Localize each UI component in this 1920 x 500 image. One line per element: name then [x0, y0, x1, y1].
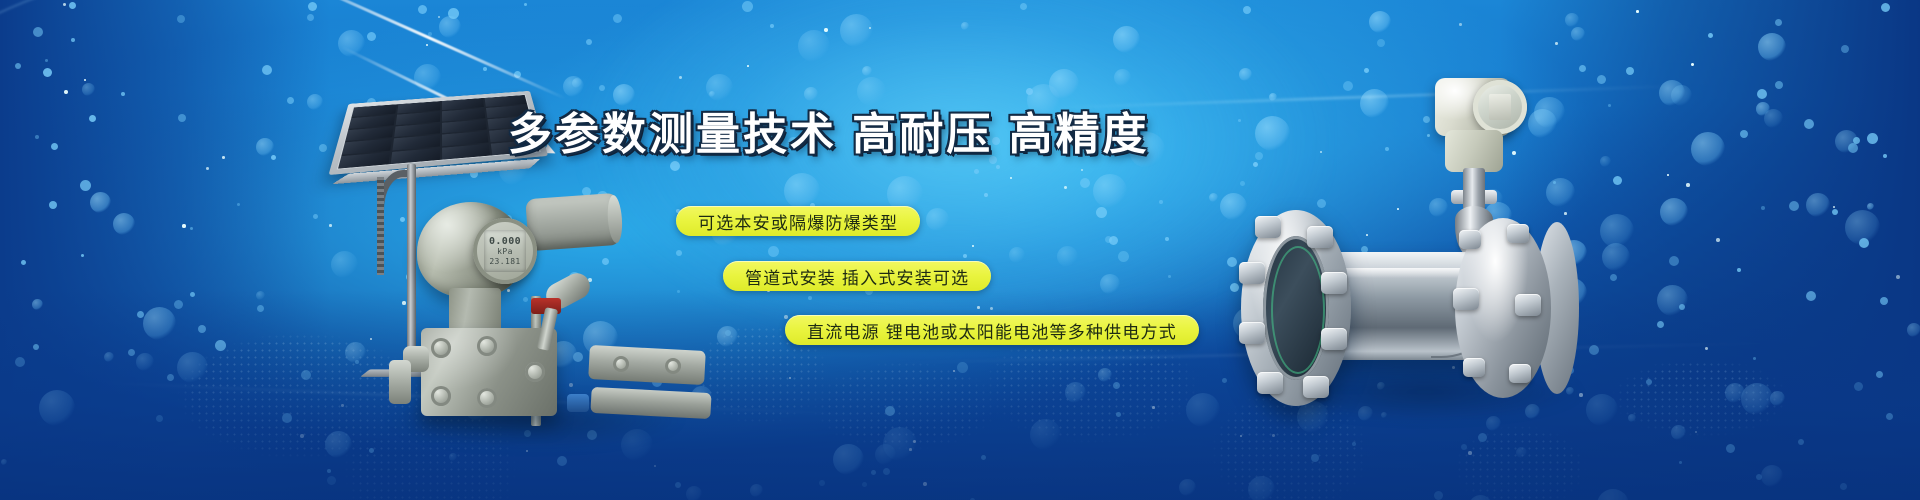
banner-headline: 多参数测量技术 高耐压 高精度 [508, 98, 1149, 162]
bolt [665, 358, 681, 374]
pipe-flange-left [1241, 210, 1351, 406]
flange-bolt [1515, 294, 1541, 316]
flange-bolt [1507, 224, 1529, 243]
flange-bolt [1239, 262, 1265, 284]
flange-bolt [1303, 376, 1329, 398]
bolt [525, 362, 545, 382]
bolt [431, 338, 451, 358]
valve-manifold-block [421, 328, 557, 416]
bolt [477, 388, 497, 408]
lcd-unit: kPa [497, 247, 513, 256]
lcd-value-primary: 0.000 [489, 237, 521, 246]
flange-face-gasket [1263, 236, 1329, 380]
flange-bolt [1321, 272, 1347, 294]
feature-badge-2[interactable]: 管道式安装 插入式安装可选 [723, 261, 991, 291]
sensor-drum [525, 193, 620, 251]
bolt [613, 356, 629, 372]
transmitter-display-lens [1473, 80, 1527, 134]
bolt [431, 386, 451, 406]
flange-bolt [1257, 372, 1283, 394]
feature-badge-1[interactable]: 可选本安或隔爆防爆类型 [676, 206, 920, 236]
flange-bolt [1255, 216, 1281, 238]
flange-bolt [1453, 288, 1479, 310]
flange-bolt [1321, 328, 1347, 350]
product-banner: 0.000 kPa 23.181 [0, 0, 1920, 500]
product-image-flow-meter [1245, 62, 1625, 392]
lcd-value-secondary: 23.181 [489, 257, 520, 266]
process-pipe [588, 345, 706, 385]
feature-badge-3[interactable]: 直流电源 锂电池或太阳能电池等多种供电方式 [785, 315, 1199, 345]
lcd-screen: 0.000 kPa 23.181 [484, 230, 526, 272]
flange-bolt [1463, 358, 1485, 377]
transmitter-junction-box [1445, 130, 1503, 172]
blue-plug-cap [567, 394, 589, 412]
flange-bolt [1509, 364, 1531, 383]
flange-bolt [1459, 230, 1481, 249]
sensor-stem [1463, 168, 1485, 210]
flange-bolt [1307, 226, 1333, 248]
transmitter-display-window: 0.000 kPa 23.181 [473, 218, 537, 284]
pipe-flange-right [1455, 218, 1551, 398]
process-port [389, 360, 411, 404]
bolt [477, 336, 497, 356]
mounting-pole [407, 164, 416, 374]
flange-bolt [1239, 322, 1265, 344]
